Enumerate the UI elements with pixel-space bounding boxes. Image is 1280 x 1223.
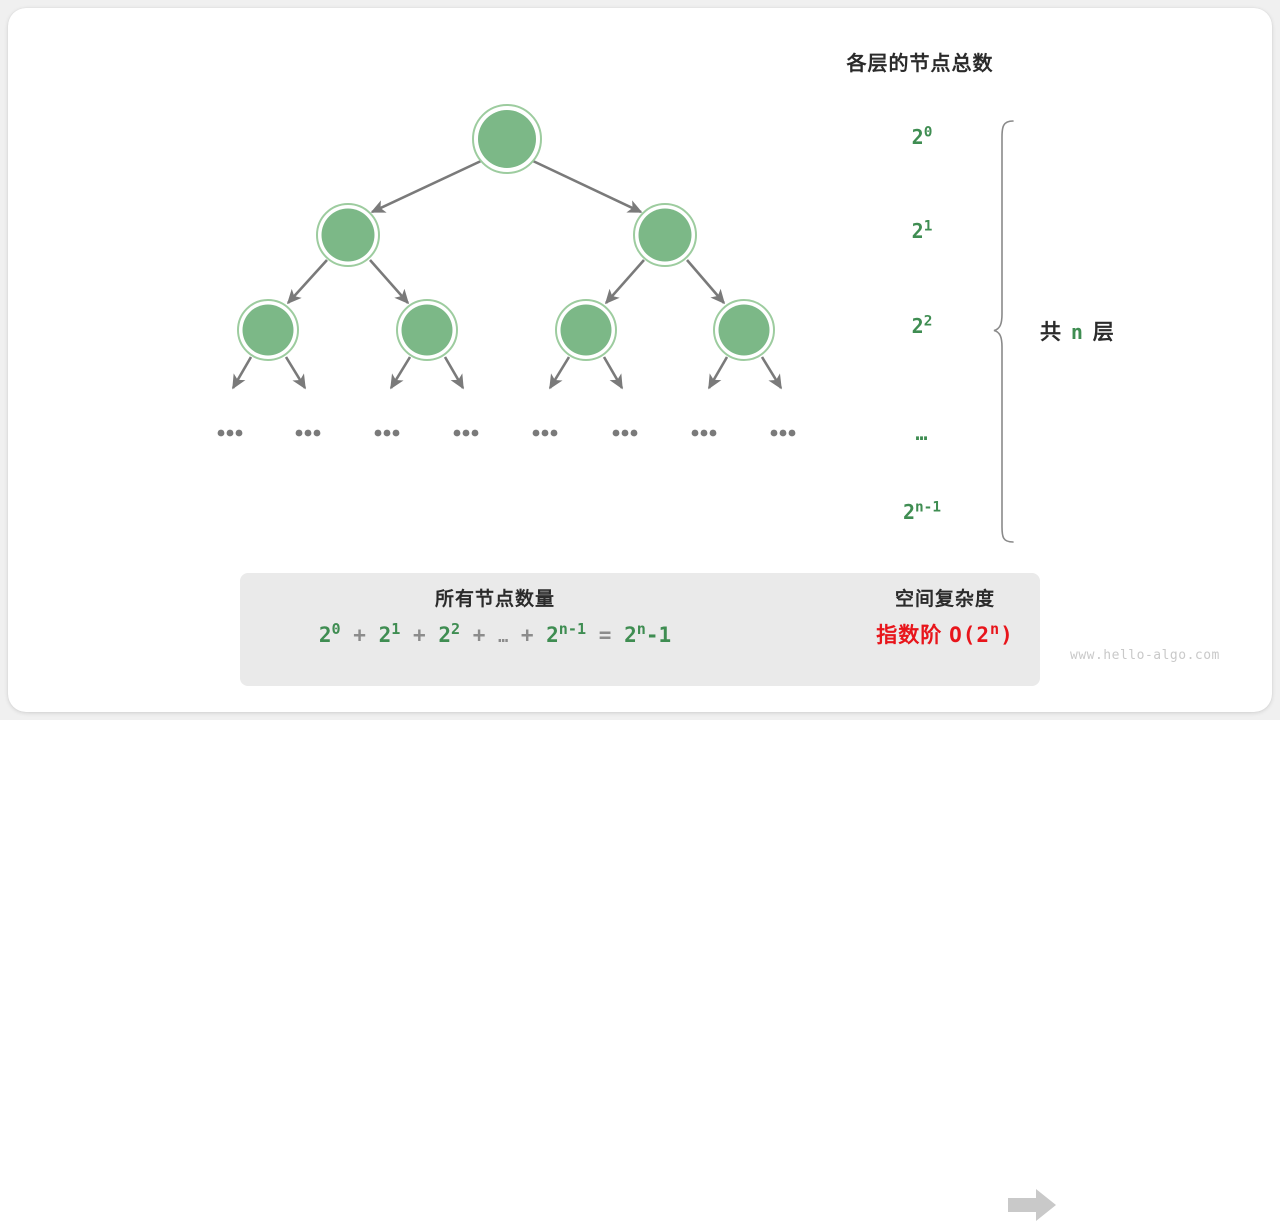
formula-plus: +: [521, 623, 534, 647]
summary-left-heading: 所有节点数量: [250, 587, 740, 614]
formula-plus: +: [473, 623, 486, 647]
watermark: www.hello-algo.com: [1070, 648, 1220, 663]
total-layers-suffix: 层: [1093, 321, 1116, 344]
complexity-value: O(2n): [949, 623, 1014, 647]
total-layers-prefix: 共: [1040, 321, 1063, 344]
summary-box: 所有节点数量 20 + 21 + 22 + … + 2n-1 = 2n-1 空间…: [240, 573, 1040, 686]
formula-plus: +: [353, 623, 366, 647]
layer-count-label-0: 20: [852, 127, 992, 147]
layer-count-label-2: 22: [852, 316, 992, 336]
formula-result: 2n-1: [624, 623, 671, 647]
layer-count-label-ellipsis: …: [852, 423, 992, 443]
page-title: 各层的节点总数: [760, 47, 1080, 76]
layer-count-label-last: 2n-1: [852, 502, 992, 522]
formula-term-1: 21: [379, 623, 401, 647]
formula-ellipsis: …: [498, 626, 508, 646]
arrow-right-icon: [1006, 1187, 1058, 1223]
layer-count-label-1: 21: [852, 221, 992, 241]
node-count-formula: 20 + 21 + 22 + … + 2n-1 = 2n-1: [250, 624, 740, 647]
formula-term-2: 22: [438, 623, 460, 647]
total-layers-label: 共 n 层: [1040, 316, 1116, 346]
summary-right: 空间复杂度 指数阶 O(2n): [860, 587, 1030, 647]
formula-term-0: 20: [319, 623, 341, 647]
summary-right-heading: 空间复杂度: [860, 587, 1030, 614]
formula-plus: +: [413, 623, 426, 647]
complexity-result: 指数阶 O(2n): [860, 624, 1030, 647]
diagram-canvas: 各层的节点总数 20 21 22 … 2n-1 共 n 层 所有节点数量 20 …: [0, 0, 1280, 720]
summary-left: 所有节点数量 20 + 21 + 22 + … + 2n-1 = 2n-1: [250, 587, 740, 647]
total-layers-variable: n: [1071, 320, 1085, 344]
complexity-label: 指数阶: [876, 624, 942, 647]
formula-term-last: 2n-1: [546, 623, 586, 647]
formula-equals: =: [599, 623, 612, 647]
